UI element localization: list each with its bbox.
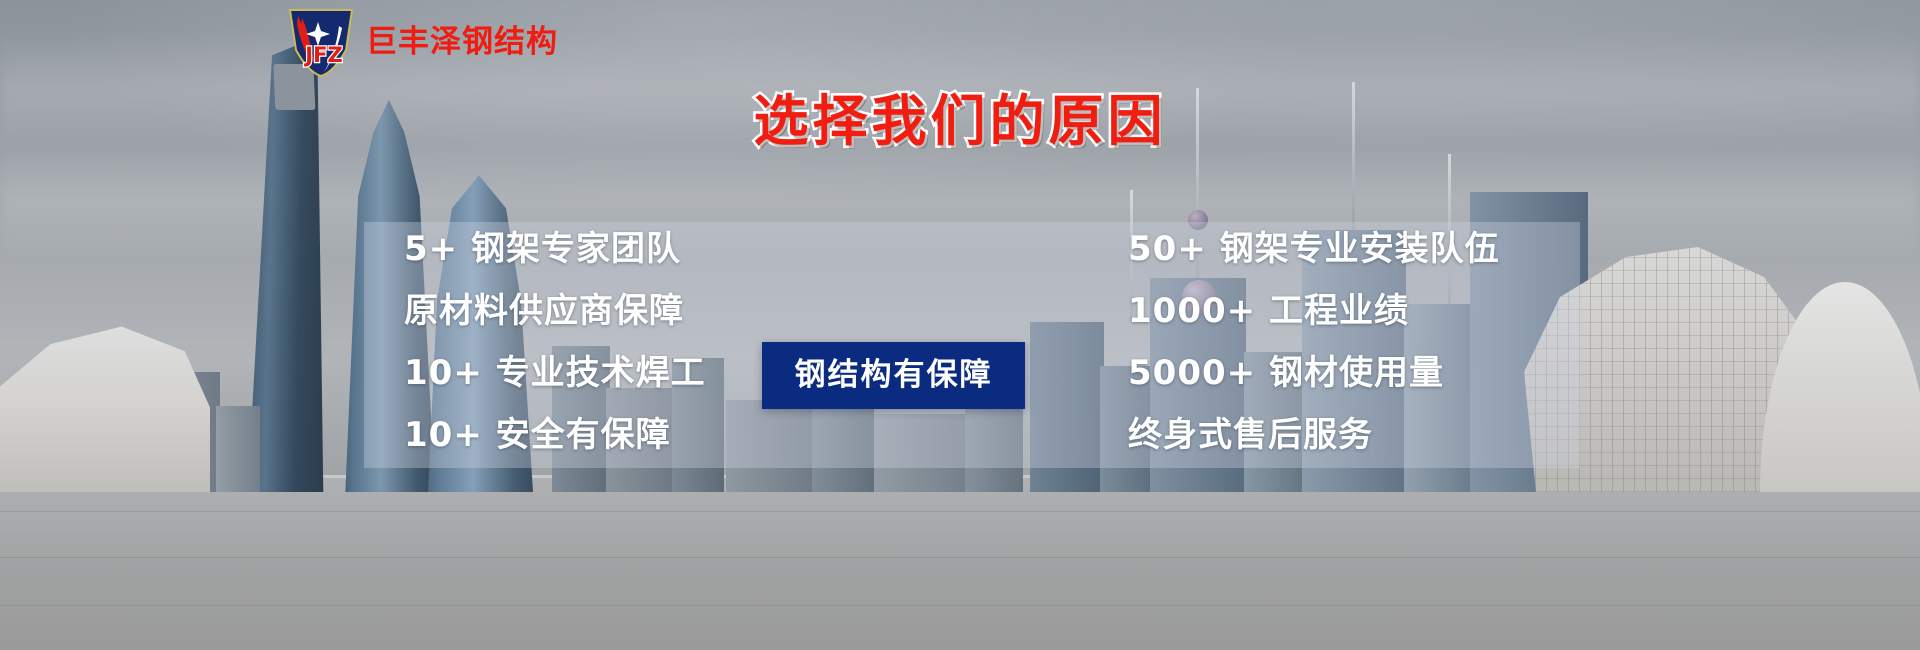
feature-item: 5+ 钢架专家团队 <box>404 218 681 280</box>
svg-text:JFZ: JFZ <box>303 43 342 67</box>
page-title-text: 选择我们的原因 <box>753 94 1166 149</box>
feature-item: 终身式售后服务 <box>1128 404 1373 466</box>
guarantee-badge-label: 钢结构有保障 <box>795 360 993 391</box>
page-title: 选择我们的原因 <box>0 94 1920 149</box>
left-pavilion-structure <box>0 316 210 492</box>
plaza-seam <box>0 557 1920 558</box>
plaza-seam <box>0 605 1920 606</box>
brand-name: 巨丰泽钢结构 <box>366 27 558 58</box>
feature-list-right: 50+ 钢架专业安装队伍 1000+ 工程业绩 5000+ 钢材使用量 终身式售… <box>1128 218 1558 466</box>
plaza-seam <box>0 511 1920 512</box>
shield-jfz-icon: JFZ <box>284 6 358 78</box>
feature-item: 50+ 钢架专业安装队伍 <box>1128 218 1500 280</box>
guarantee-badge[interactable]: 钢结构有保障 <box>762 342 1025 409</box>
brand-logo-lockup[interactable]: JFZ 巨丰泽钢结构 <box>284 6 558 78</box>
feature-list-left: 5+ 钢架专家团队 原材料供应商保障 10+ 专业技术焊工 10+ 安全有保障 <box>404 218 824 466</box>
feature-item: 10+ 安全有保障 <box>404 404 671 466</box>
feature-item: 5000+ 钢材使用量 <box>1128 342 1444 404</box>
feature-item: 1000+ 工程业绩 <box>1128 280 1409 342</box>
promo-banner: JFZ 巨丰泽钢结构 选择我们的原因 5+ 钢架专家团队 原材料供应商保障 10… <box>0 0 1920 650</box>
feature-item: 原材料供应商保障 <box>404 280 684 342</box>
feature-item: 10+ 专业技术焊工 <box>404 342 706 404</box>
skyline-building <box>216 406 260 492</box>
plaza-ground <box>0 475 1920 650</box>
